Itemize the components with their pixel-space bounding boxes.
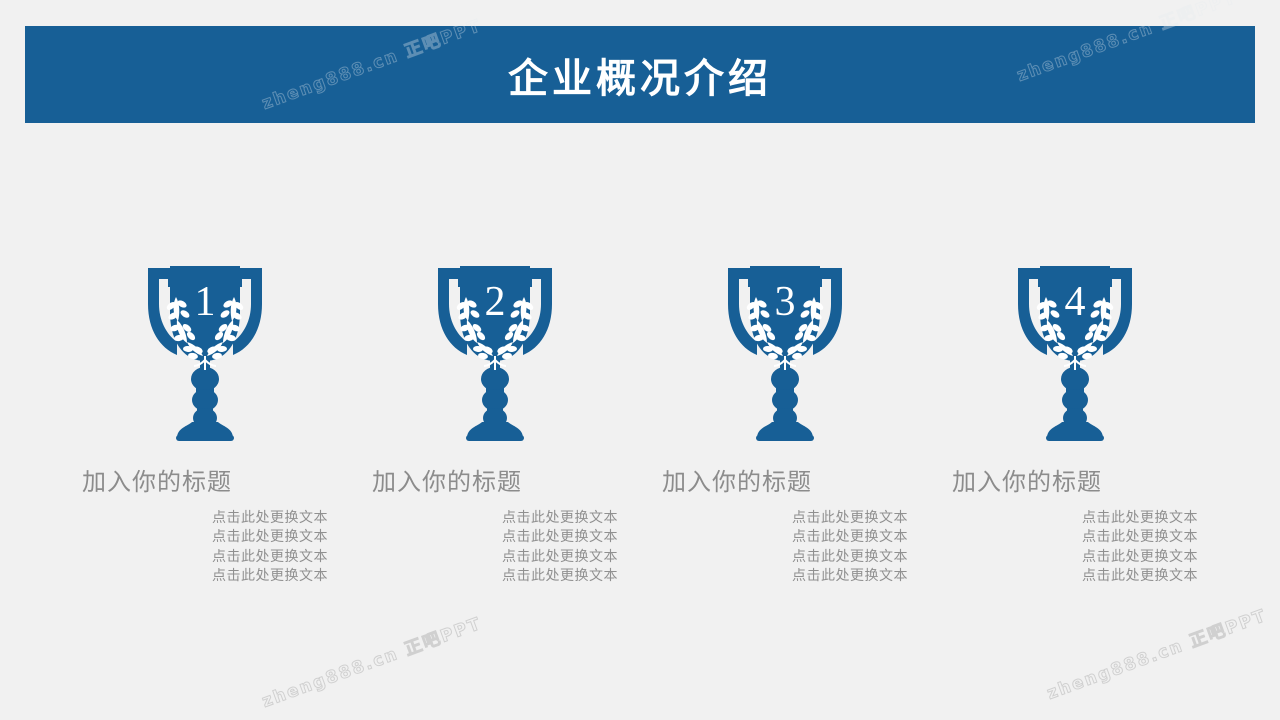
body-line: 点击此处更换文本 [792,509,908,528]
body-line: 点击此处更换文本 [792,567,908,586]
body-line: 点击此处更换文本 [502,567,618,586]
column-item-1[interactable]: 1 加入你的标题 点击此处更换文本 点击此处更换文本 点击此处更换文本 点击此处… [60,260,350,586]
trophy-badge-number: 1 [195,279,216,325]
column-list: 1 加入你的标题 点击此处更换文本 点击此处更换文本 点击此处更换文本 点击此处… [60,260,1220,586]
column-body: 点击此处更换文本 点击此处更换文本 点击此处更换文本 点击此处更换文本 [792,509,908,586]
body-line: 点击此处更换文本 [1082,567,1198,586]
column-body: 点击此处更换文本 点击此处更换文本 点击此处更换文本 点击此处更换文本 [212,509,328,586]
column-item-2[interactable]: 2 加入你的标题 点击此处更换文本 点击此处更换文本 点击此处更换文本 点击此处… [350,260,640,586]
column-body: 点击此处更换文本 点击此处更换文本 点击此处更换文本 点击此处更换文本 [502,509,618,586]
body-line: 点击此处更换文本 [502,548,618,567]
body-line: 点击此处更换文本 [502,528,618,547]
trophy-icon: 3 [710,260,860,445]
trophy-badge-number: 2 [485,279,506,325]
column-body: 点击此处更换文本 点击此处更换文本 点击此处更换文本 点击此处更换文本 [1082,509,1198,586]
body-line: 点击此处更换文本 [792,528,908,547]
body-line: 点击此处更换文本 [1082,509,1198,528]
body-line: 点击此处更换文本 [1082,548,1198,567]
body-line: 点击此处更换文本 [212,567,328,586]
trophy-icon: 2 [420,260,570,445]
body-line: 点击此处更换文本 [1082,528,1198,547]
trophy-badge-number: 3 [775,279,796,325]
column-title: 加入你的标题 [82,467,232,497]
watermark-text: zheng888.cn 正吧PPT [1043,601,1270,704]
header-bar: 企业概况介绍 [25,26,1255,123]
body-line: 点击此处更换文本 [212,509,328,528]
body-line: 点击此处更换文本 [212,548,328,567]
body-line: 点击此处更换文本 [212,528,328,547]
page-title: 企业概况介绍 [25,46,1255,104]
body-line: 点击此处更换文本 [502,509,618,528]
trophy-icon: 4 [1000,260,1150,445]
body-line: 点击此处更换文本 [792,548,908,567]
trophy-icon: 1 [130,260,280,445]
watermark-text: zheng888.cn 正吧PPT [258,609,485,712]
column-title: 加入你的标题 [952,467,1102,497]
trophy-badge-number: 4 [1065,279,1086,325]
column-item-3[interactable]: 3 加入你的标题 点击此处更换文本 点击此处更换文本 点击此处更换文本 点击此处… [640,260,930,586]
column-item-4[interactable]: 4 加入你的标题 点击此处更换文本 点击此处更换文本 点击此处更换文本 点击此处… [930,260,1220,586]
column-title: 加入你的标题 [662,467,812,497]
column-title: 加入你的标题 [372,467,522,497]
